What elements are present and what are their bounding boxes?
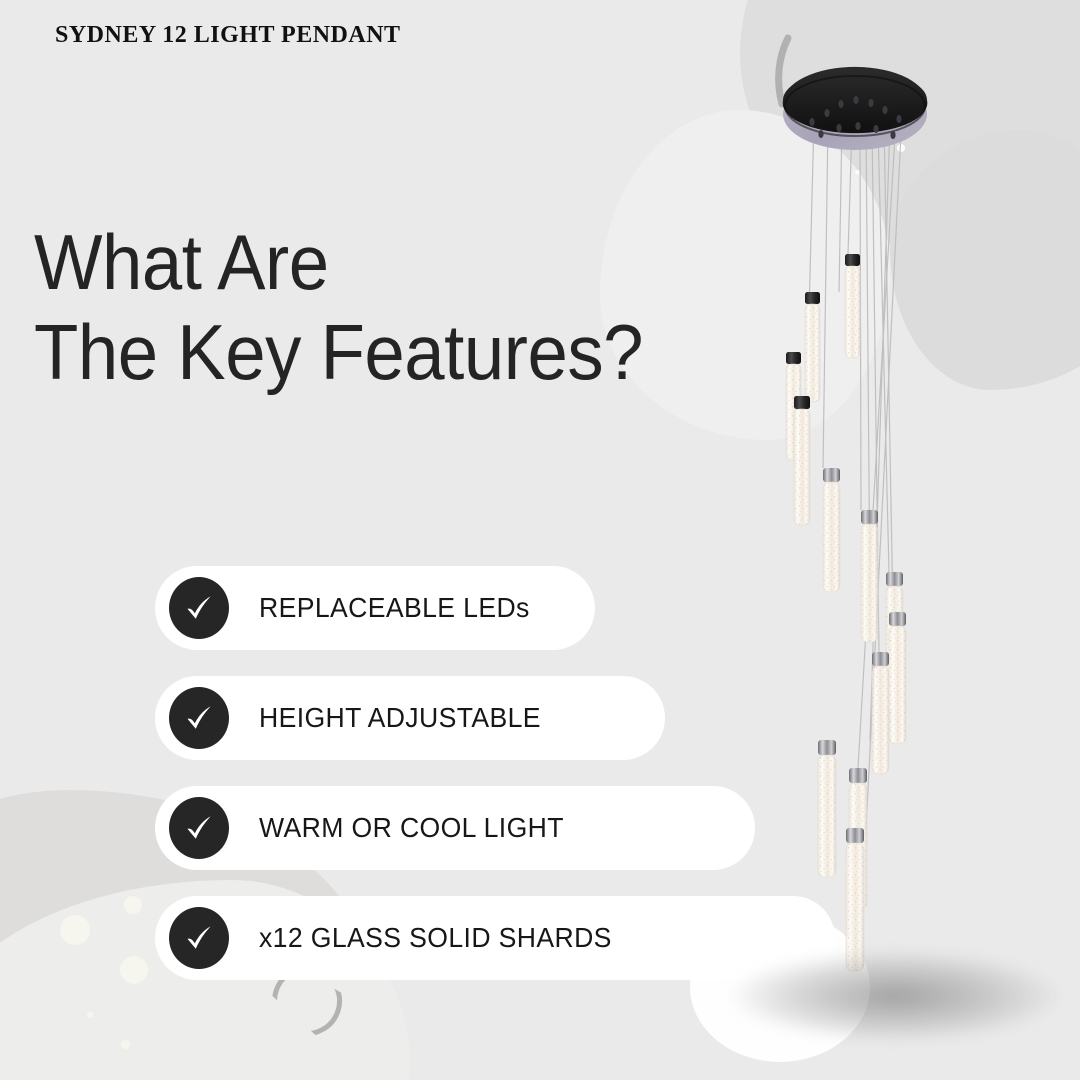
feature-pill-height-adjustable[interactable]: HEIGHT ADJUSTABLE — [155, 676, 665, 760]
feature-label: REPLACEABLE LEDs — [259, 592, 530, 624]
check-icon — [169, 687, 229, 749]
feature-label: HEIGHT ADJUSTABLE — [259, 702, 541, 734]
feature-label: WARM OR COOL LIGHT — [259, 812, 564, 844]
decor-dot — [121, 1040, 130, 1049]
feature-pill-warm-or-cool-light[interactable]: WARM OR COOL LIGHT — [155, 786, 755, 870]
page-title: What Are The Key Features? — [34, 218, 643, 397]
poster-canvas: SYDNEY 12 LIGHT PENDANT What Are The Key… — [0, 0, 1080, 1080]
check-icon — [169, 907, 229, 969]
check-icon — [169, 577, 229, 639]
decor-dot — [60, 915, 90, 945]
feature-pill-replaceable-leds[interactable]: REPLACEABLE LEDs — [155, 566, 595, 650]
headline-line-1: What Are — [34, 218, 643, 308]
decor-dot — [124, 896, 142, 914]
product-eyebrow-title: SYDNEY 12 LIGHT PENDANT — [55, 22, 401, 49]
product-image-sydney-pendant — [720, 0, 1080, 1080]
feature-label: x12 GLASS SOLID SHARDS — [259, 922, 612, 954]
product-floor-shadow — [730, 950, 1060, 1042]
decor-dot — [120, 956, 148, 984]
decor-dot — [87, 1012, 93, 1018]
check-icon — [169, 797, 229, 859]
headline-line-2: The Key Features? — [34, 308, 643, 398]
